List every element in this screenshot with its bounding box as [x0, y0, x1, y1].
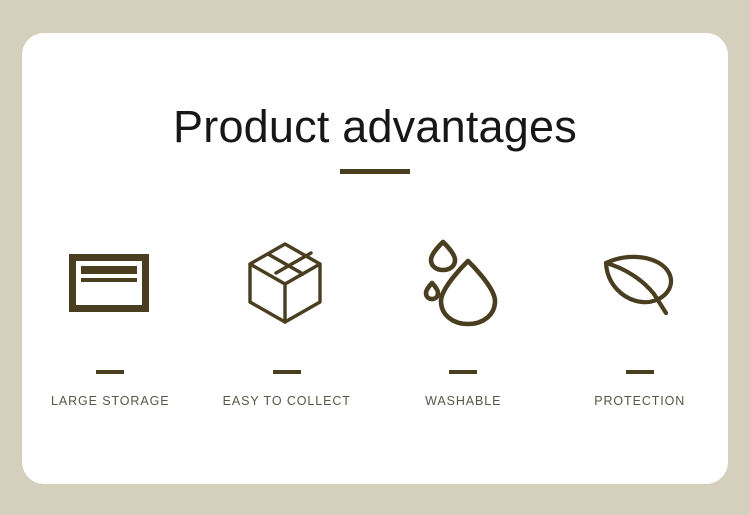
product-advantages-card: Product advantages LARGE STORAGE: [22, 33, 728, 484]
title-divider: [340, 169, 410, 174]
poster-stage: Product advantages LARGE STORAGE: [0, 0, 750, 515]
water-drops-icon: [422, 228, 504, 338]
feature-item-protection: PROTECTION: [552, 228, 729, 408]
storage-box-icon: [69, 228, 151, 338]
feature-label: LARGE STORAGE: [51, 394, 169, 408]
feature-dash: [626, 370, 654, 374]
feature-label: PROTECTION: [594, 394, 685, 408]
feature-dash: [273, 370, 301, 374]
cardboard-box-icon: [246, 228, 328, 338]
feature-dash: [96, 370, 124, 374]
feature-dash: [449, 370, 477, 374]
feature-list: LARGE STORAGE EASY TO COLLECT: [22, 228, 728, 408]
feature-item-large-storage: LARGE STORAGE: [22, 228, 199, 408]
feature-label: EASY TO COLLECT: [223, 394, 351, 408]
feature-item-washable: WASHABLE: [375, 228, 552, 408]
page-title: Product advantages: [22, 101, 728, 153]
leaf-icon: [598, 228, 682, 338]
feature-label: WASHABLE: [425, 394, 501, 408]
feature-item-easy-to-collect: EASY TO COLLECT: [199, 228, 376, 408]
